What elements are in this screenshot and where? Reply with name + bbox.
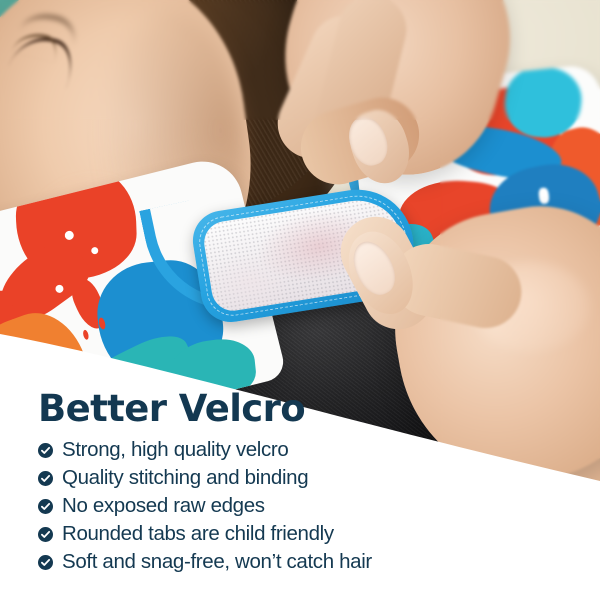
check-circle-icon bbox=[38, 527, 53, 542]
feature-text: Quality stitching and binding bbox=[62, 466, 308, 490]
check-circle-icon bbox=[38, 499, 53, 514]
list-item: Strong, high quality velcro bbox=[38, 436, 372, 464]
list-item: Quality stitching and binding bbox=[38, 464, 372, 492]
panel-content: Better Velcro Strong, high quality velcr… bbox=[0, 0, 600, 600]
feature-text: Strong, high quality velcro bbox=[62, 438, 288, 462]
product-feature-card: Better Velcro Strong, high quality velcr… bbox=[0, 0, 600, 600]
feature-text: Soft and snag-free, won’t catch hair bbox=[62, 550, 372, 574]
list-item: Soft and snag-free, won’t catch hair bbox=[38, 548, 372, 576]
feature-list: Strong, high quality velcro Quality stit… bbox=[38, 436, 372, 576]
check-circle-icon bbox=[38, 555, 53, 570]
list-item: No exposed raw edges bbox=[38, 492, 372, 520]
feature-text: No exposed raw edges bbox=[62, 494, 265, 518]
check-circle-icon bbox=[38, 471, 53, 486]
check-circle-icon bbox=[38, 443, 53, 458]
page-title: Better Velcro bbox=[38, 390, 305, 427]
list-item: Rounded tabs are child friendly bbox=[38, 520, 372, 548]
feature-text: Rounded tabs are child friendly bbox=[62, 522, 334, 546]
